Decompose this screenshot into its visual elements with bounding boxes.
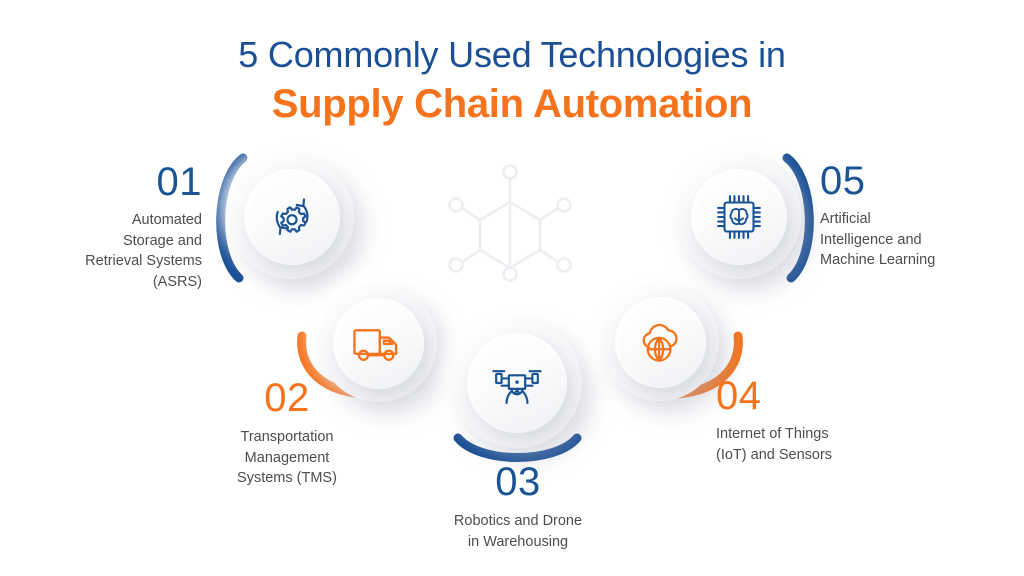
gear-refresh-cycle-icon [263, 188, 321, 246]
cloud-globe-iot-icon [631, 313, 689, 371]
icon-bubble-inner-03 [467, 333, 567, 433]
icon-bubble-inner-04 [615, 297, 706, 388]
icon-bubble-inner-02 [333, 298, 424, 389]
item-block-05: 05 Artificial Intelligence and Machine L… [820, 161, 1020, 271]
item-number-01: 01 [20, 162, 202, 202]
icon-bubble-inner-05 [691, 169, 787, 265]
icon-bubble-05[interactable] [676, 154, 801, 279]
icon-bubble-01[interactable] [229, 154, 354, 279]
item-number-05: 05 [820, 161, 1020, 201]
title-line-1: 5 Commonly Used Technologies in [0, 34, 1024, 76]
infographic-canvas: 5 Commonly Used Technologies in Supply C… [0, 0, 1024, 576]
ai-brain-chip-icon [710, 188, 768, 246]
icon-bubble-inner-01 [244, 169, 340, 265]
item-block-03: 03 Robotics and Drone in Warehousing [418, 462, 618, 552]
hexagon-node-network-icon [440, 150, 580, 300]
icon-bubble-03[interactable] [452, 318, 582, 448]
delivery-truck-icon [349, 314, 407, 372]
item-block-04: 04 Internet of Things (IoT) and Sensors [716, 376, 926, 465]
icon-bubble-04[interactable] [601, 283, 719, 401]
drone-quadcopter-icon [488, 354, 546, 412]
item-caption-02: Transportation Management Systems (TMS) [192, 427, 382, 489]
item-caption-04: Internet of Things (IoT) and Sensors [716, 424, 926, 465]
item-caption-05: Artificial Intelligence and Machine Lear… [820, 209, 1020, 271]
item-block-02: 02 Transportation Management Systems (TM… [192, 378, 382, 489]
item-caption-01: Automated Storage and Retrieval Systems … [20, 210, 202, 292]
title-line-2: Supply Chain Automation [0, 80, 1024, 128]
page-title: 5 Commonly Used Technologies in Supply C… [0, 34, 1024, 128]
item-number-02: 02 [192, 378, 382, 418]
item-block-01: 01 Automated Storage and Retrieval Syste… [20, 162, 202, 292]
item-number-03: 03 [418, 462, 618, 502]
item-number-04: 04 [716, 376, 926, 416]
item-caption-03: Robotics and Drone in Warehousing [418, 511, 618, 552]
